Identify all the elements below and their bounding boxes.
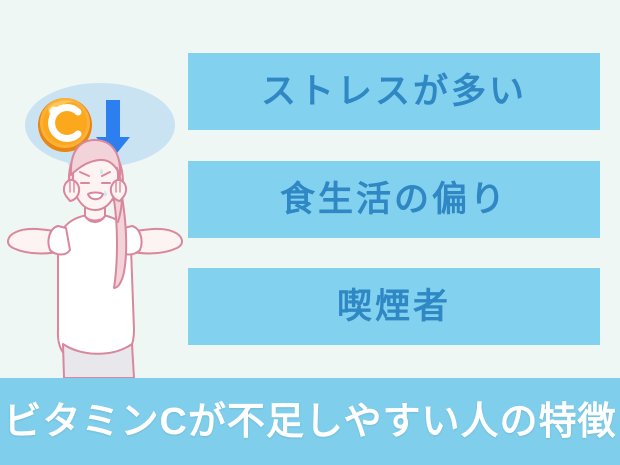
feature-box-2[interactable]: 食生活の偏り bbox=[188, 161, 600, 238]
banner-title: ビタミンCが不足しやすい人の特徴 bbox=[3, 403, 616, 441]
illustration-panel bbox=[0, 0, 190, 380]
feature-label-2: 食生活の偏り bbox=[280, 182, 508, 217]
woman-figure bbox=[8, 140, 182, 378]
infographic-root: ストレスが多い 食生活の偏り 喫煙者 ビタミンCが不足しやすい人の特徴 bbox=[0, 0, 620, 465]
feature-box-3[interactable]: 喫煙者 bbox=[188, 268, 600, 345]
title-banner: ビタミンCが不足しやすい人の特徴 bbox=[0, 378, 620, 465]
feature-box-1[interactable]: ストレスが多い bbox=[188, 53, 600, 130]
stressed-woman-illustration bbox=[0, 0, 190, 380]
feature-label-3: 喫煙者 bbox=[337, 289, 451, 324]
feature-label-1: ストレスが多い bbox=[261, 74, 527, 109]
